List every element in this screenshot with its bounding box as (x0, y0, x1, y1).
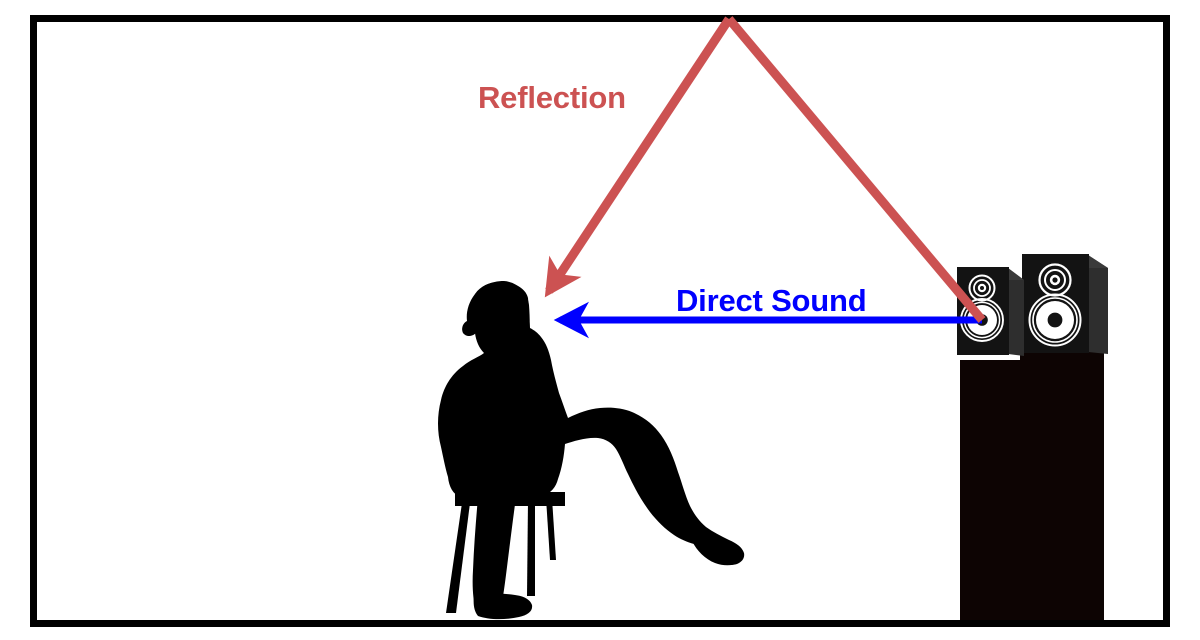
speaker-stand-far (1020, 352, 1104, 620)
speaker-near-side-panel (1008, 268, 1024, 356)
reflection-label: Reflection (478, 80, 626, 115)
bookshelf-speaker-far (1022, 254, 1108, 354)
speaker-far-side-panel (1088, 255, 1108, 354)
speaker-stand-near (960, 360, 1020, 620)
listener-near-shoe (474, 594, 532, 620)
diagram-canvas: Reflection Direct Sound (0, 0, 1200, 640)
direct-sound-label: Direct Sound (676, 283, 867, 318)
acoustics-diagram: Reflection Direct Sound (0, 0, 1200, 640)
bookshelf-speaker-near (957, 267, 1024, 356)
speaker-near-tweeter (970, 276, 995, 301)
speaker-far-tweeter (1040, 265, 1071, 296)
speaker-far-woofer (1030, 295, 1081, 346)
